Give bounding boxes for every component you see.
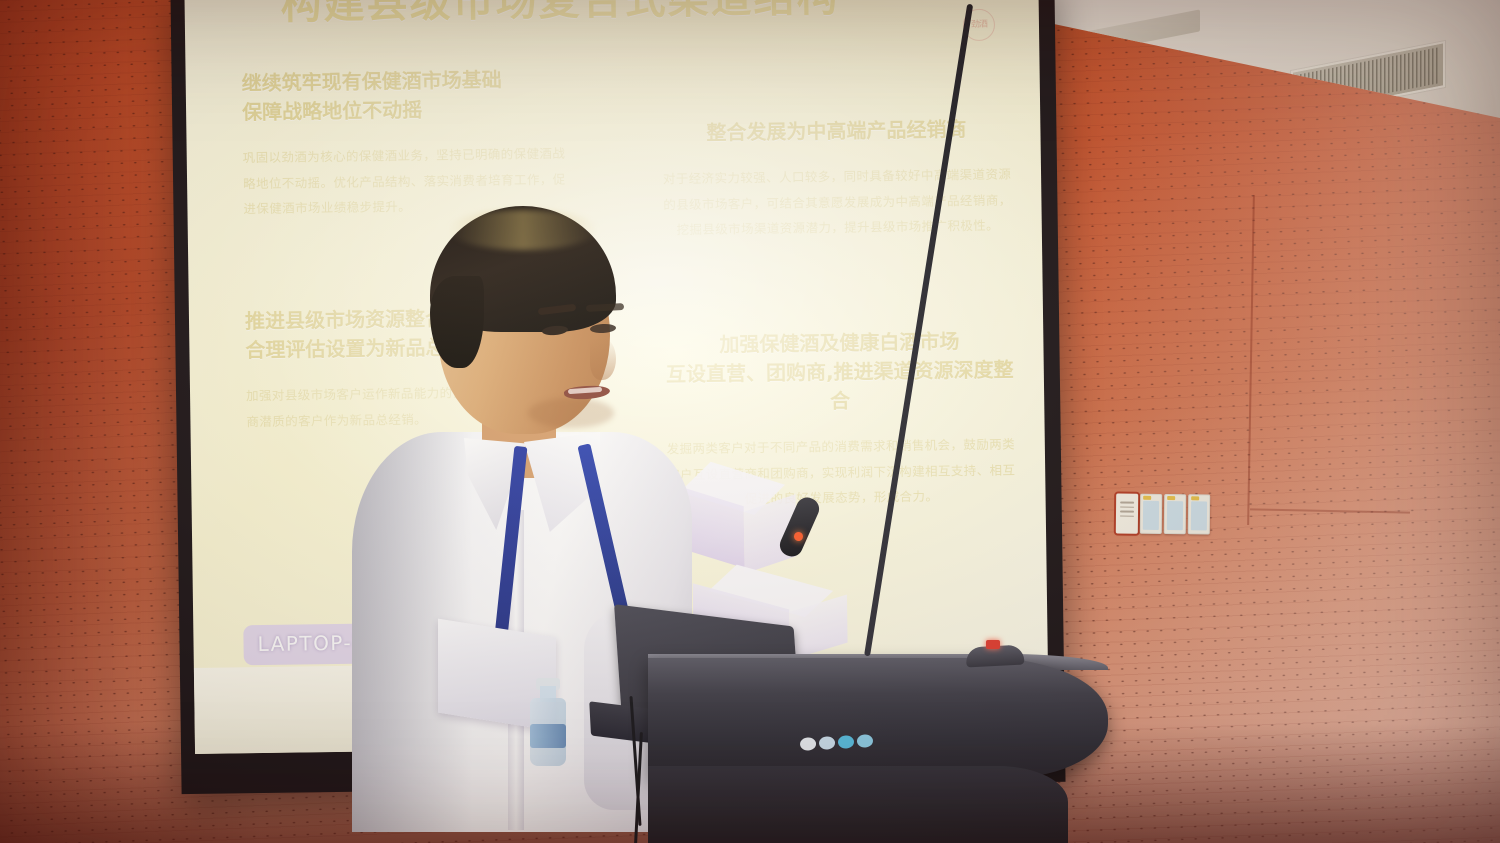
chin-shadow: [528, 398, 614, 428]
block-heading-line1: 继续筑牢现有保健酒市场基础: [242, 65, 572, 99]
water-bottle: [530, 680, 566, 766]
slide-title: 构建县级市场复合式渠道结构: [280, 0, 921, 31]
switch-rocker[interactable]: [1143, 501, 1159, 530]
switch-tab: [1167, 496, 1175, 500]
nose: [590, 338, 616, 380]
block-body-text: 对于经济实力较强、人口较多，同时具备较好中高端渠道资源的县级市场客户，可结合其意…: [657, 161, 1018, 243]
plate-text-lines: [1120, 502, 1134, 520]
fire-alarm-info-plate[interactable]: [1116, 494, 1138, 534]
bottle-label: [530, 724, 566, 748]
eyebrow-far: [586, 303, 624, 312]
eye-far: [590, 323, 616, 333]
block-heading-line2: 保障战略地位不动摇: [242, 94, 572, 128]
hair-highlight: [448, 210, 598, 250]
light-switch-3[interactable]: [1188, 494, 1210, 534]
block-heading-line1: 整合发展为中高端产品经销商: [656, 114, 1016, 148]
light-switch-1[interactable]: [1140, 494, 1162, 534]
switch-rocker[interactable]: [1191, 501, 1207, 530]
hair-sideburn: [430, 276, 484, 368]
wall-highlight-right: [1080, 0, 1500, 843]
microphone-base-led: [986, 640, 1000, 649]
slide-block-top-right: 整合发展为中高端产品经销商 对于经济实力较强、人口较多，同时具备较好中高端渠道资…: [656, 114, 1018, 243]
switch-tab: [1191, 496, 1199, 500]
light-switch-2[interactable]: [1164, 494, 1186, 534]
switch-tab: [1143, 496, 1151, 500]
podium: [648, 636, 1118, 843]
podium-front-panel: [648, 766, 1068, 843]
block-heading-line2: 互设直营、团购商,推进渠道资源深度整合: [660, 355, 1021, 418]
switch-rocker[interactable]: [1167, 501, 1183, 530]
wall-switch-panel-group: [1116, 494, 1210, 535]
screenshot-root: 构建县级市场复合式渠道结构 劲酒 继续筑牢现有保健酒市场基础 保障战略地位不动摇…: [0, 0, 1500, 843]
podium-top-surface: [648, 658, 1108, 778]
